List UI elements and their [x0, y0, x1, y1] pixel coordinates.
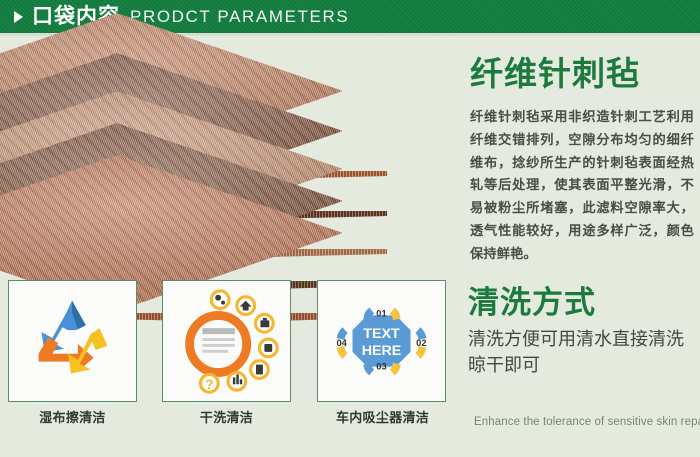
- card-vacuum: TEXT HERE 01 02 03 04: [317, 280, 446, 402]
- product-info-block: 纤维针刺毡 纤维针刺毡采用非织造针刺工艺利用纤维交错排列，空隙分布均匀的细纤维布…: [470, 56, 694, 265]
- card-caption-wet-cloth: 湿布擦清洁: [8, 407, 137, 426]
- wash-method-description: 清洗方便可用清水直接清洗晾干即可: [468, 327, 698, 378]
- felt-layer-stack: [4, 52, 456, 277]
- recycle-arrows-icon: [9, 281, 136, 401]
- octagon-center-text-1: TEXT: [363, 326, 400, 342]
- card-caption-dry-clean: 干洗清洁: [162, 407, 291, 426]
- wash-method-title: 清洗方式: [468, 286, 698, 320]
- triangle-right-icon: [14, 11, 23, 23]
- card-wet-cloth: [8, 280, 137, 402]
- svg-text:?: ?: [205, 377, 213, 392]
- card-dry-clean: ?: [162, 280, 291, 402]
- step-label-03: 03: [376, 362, 386, 372]
- footer-tagline: Enhance the tolerance of sensitive skin …: [474, 416, 700, 428]
- card-caption-vacuum: 车内吸尘器清洁: [310, 407, 455, 426]
- product-description: 纤维针刺毡采用非织造针刺工艺利用纤维交错排列，空隙分布均匀的细纤维布，捻纱所生产…: [470, 106, 694, 265]
- step-label-04: 04: [336, 338, 347, 348]
- header-title-en: PRODCT PARAMETERS: [130, 8, 349, 25]
- page-title: 纤维针刺毡: [470, 56, 694, 92]
- circular-infographic-icon: ?: [163, 281, 290, 401]
- wash-method-block: 清洗方式 清洗方便可用清水直接清洗晾干即可: [468, 286, 698, 378]
- octagon-steps-icon: TEXT HERE 01 02 03 04: [318, 281, 445, 401]
- step-label-02: 02: [416, 338, 426, 348]
- step-label-01: 01: [376, 308, 386, 318]
- octagon-center-text-2: HERE: [362, 343, 402, 359]
